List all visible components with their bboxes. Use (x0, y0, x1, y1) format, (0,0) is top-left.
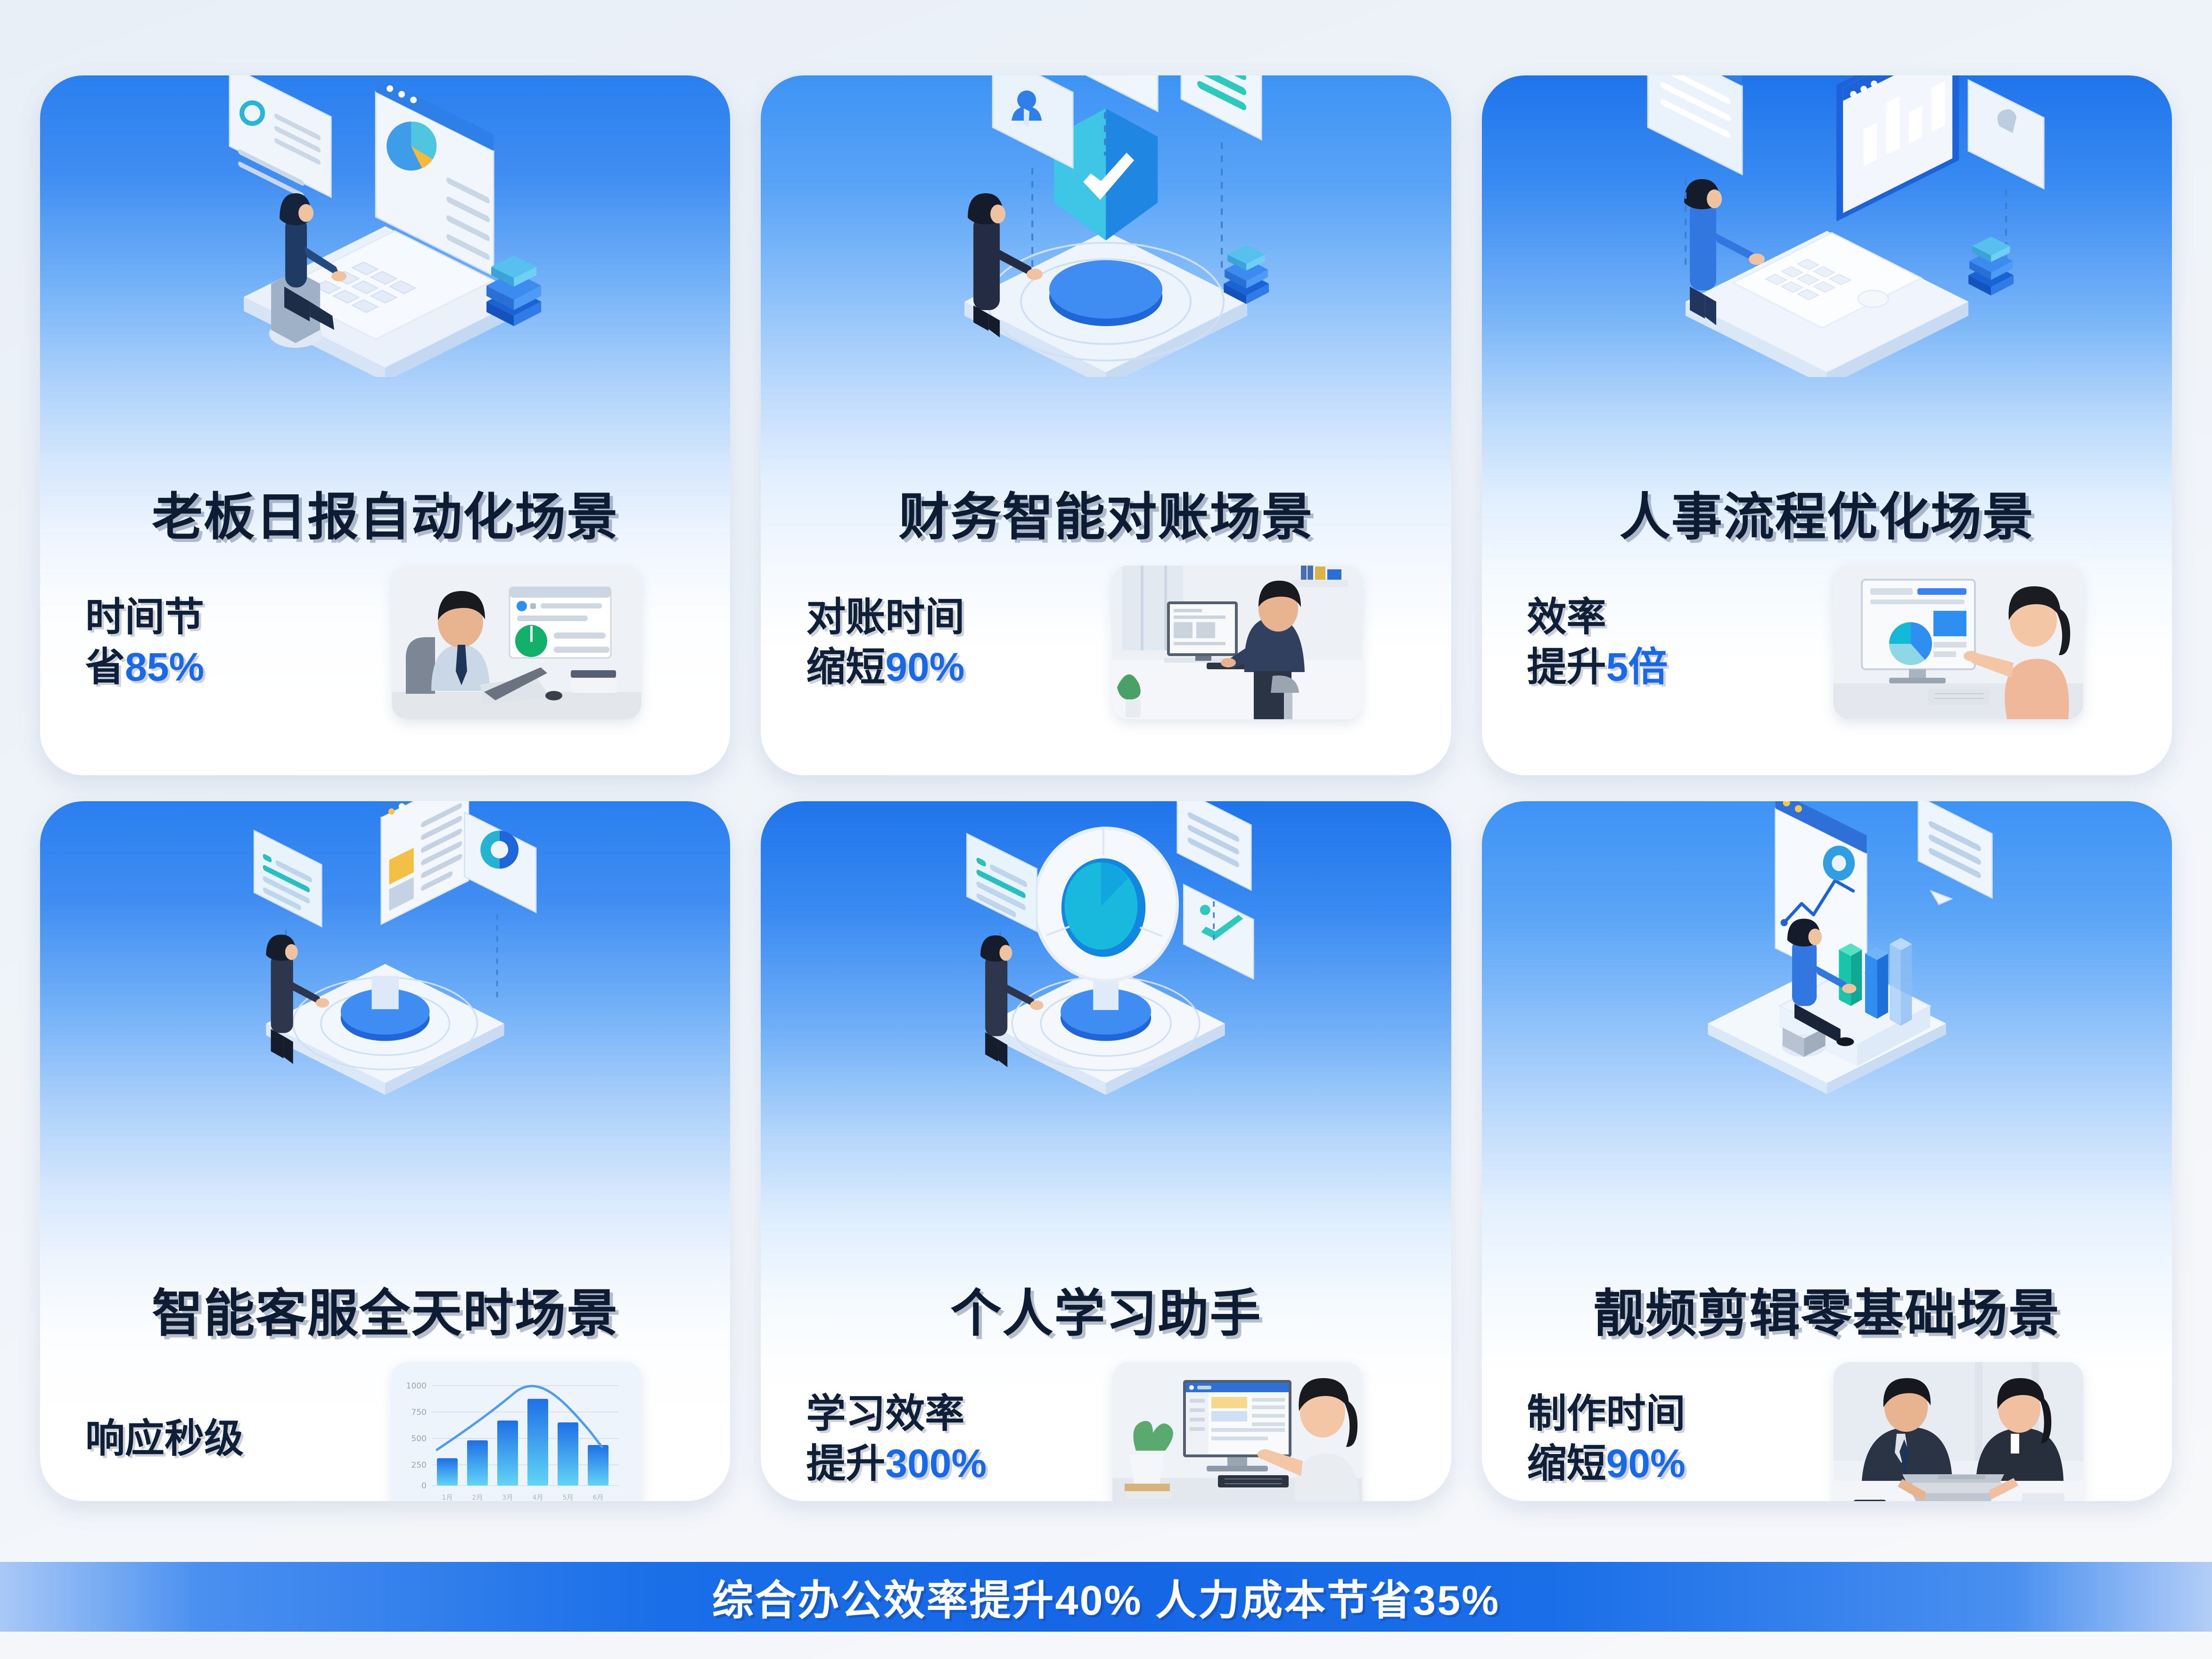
illustration-isometric-browser-donut (40, 801, 730, 1103)
svg-text:4月: 4月 (533, 1494, 543, 1501)
scenario-card-3[interactable]: 人事流程优化场景 效率 提升5倍 (1482, 75, 2172, 775)
photo-thumbnail-man-typing (392, 566, 641, 719)
card-body: 制作时间 缩短90% (1482, 1362, 2172, 1501)
photo-thumbnail-two-people-laptop (1834, 1362, 2083, 1501)
illustration-isometric-laptop-dashboard (40, 75, 730, 377)
illustration-isometric-shield-check (761, 75, 1451, 377)
svg-text:6月: 6月 (593, 1494, 604, 1501)
metric-text: 对账时间 缩短90% (806, 592, 1108, 692)
scenario-card-6[interactable]: 靓频剪辑零基础场景 制作时间 缩短90% (1482, 801, 2172, 1501)
metric-text: 效率 提升5倍 (1527, 592, 1829, 692)
metric-text: 学习效率 提升300% (806, 1389, 1108, 1489)
card-body: 效率 提升5倍 (1482, 566, 2172, 719)
illustration-isometric-torus-ring (761, 801, 1451, 1103)
metric-text: 时间节 省85% (85, 592, 387, 692)
scenario-card-grid: 老板日报自动化场景 时间节 省85% (40, 75, 2172, 1492)
svg-text:1000: 1000 (406, 1381, 427, 1391)
photo-thumbnail-man-dual-monitor (1112, 566, 1362, 719)
card-body: 对账时间 缩短90% (761, 566, 1451, 719)
card-body: 响应秒级 1000750500 2500 (40, 1362, 730, 1501)
svg-text:750: 750 (411, 1408, 427, 1417)
svg-text:0: 0 (421, 1481, 427, 1491)
card-title: 个人学习助手 (761, 1273, 1451, 1346)
svg-text:3月: 3月 (502, 1494, 513, 1501)
mini-bar-line-chart: 1000750500 2500 (392, 1362, 641, 1501)
card-title: 老板日报自动化场景 (40, 476, 730, 550)
card-title: 靓频剪辑零基础场景 (1482, 1273, 2172, 1346)
scenario-card-1[interactable]: 老板日报自动化场景 时间节 省85% (40, 75, 730, 775)
card-title: 财务智能对账场景 (761, 476, 1451, 550)
photo-thumbnail-woman-desktop-plant (1112, 1362, 1362, 1501)
card-title: 智能客服全天时场景 (40, 1273, 730, 1346)
photo-thumbnail-woman-pointing-monitor (1834, 566, 2083, 719)
card-body: 学习效率 提升300% (761, 1362, 1451, 1501)
illustration-isometric-monitor-barchart (1482, 75, 2172, 377)
card-body: 时间节 省85% (40, 566, 730, 719)
summary-banner: 综合办公效率提升40% 人力成本节省35% (0, 1562, 2212, 1632)
scenario-card-5[interactable]: 个人学习助手 学习效率 提升300% (761, 801, 1451, 1501)
scenario-card-4[interactable]: 智能客服全天时场景 响应秒级 1000750500 2500 (40, 801, 730, 1501)
scenario-card-2[interactable]: 财务智能对账场景 对账时间 缩短90% (761, 75, 1451, 775)
summary-banner-text: 综合办公效率提升40% 人力成本节省35% (712, 1567, 1500, 1627)
card-title: 人事流程优化场景 (1482, 476, 2172, 550)
svg-text:2月: 2月 (472, 1494, 483, 1501)
metric-text: 响应秒级 (85, 1414, 387, 1464)
svg-text:5月: 5月 (563, 1494, 574, 1501)
metric-text: 制作时间 缩短90% (1527, 1389, 1829, 1489)
svg-text:1月: 1月 (442, 1494, 453, 1501)
illustration-isometric-desk-linechart-bars (1482, 801, 2172, 1103)
svg-text:500: 500 (411, 1434, 427, 1444)
svg-text:250: 250 (411, 1461, 427, 1470)
